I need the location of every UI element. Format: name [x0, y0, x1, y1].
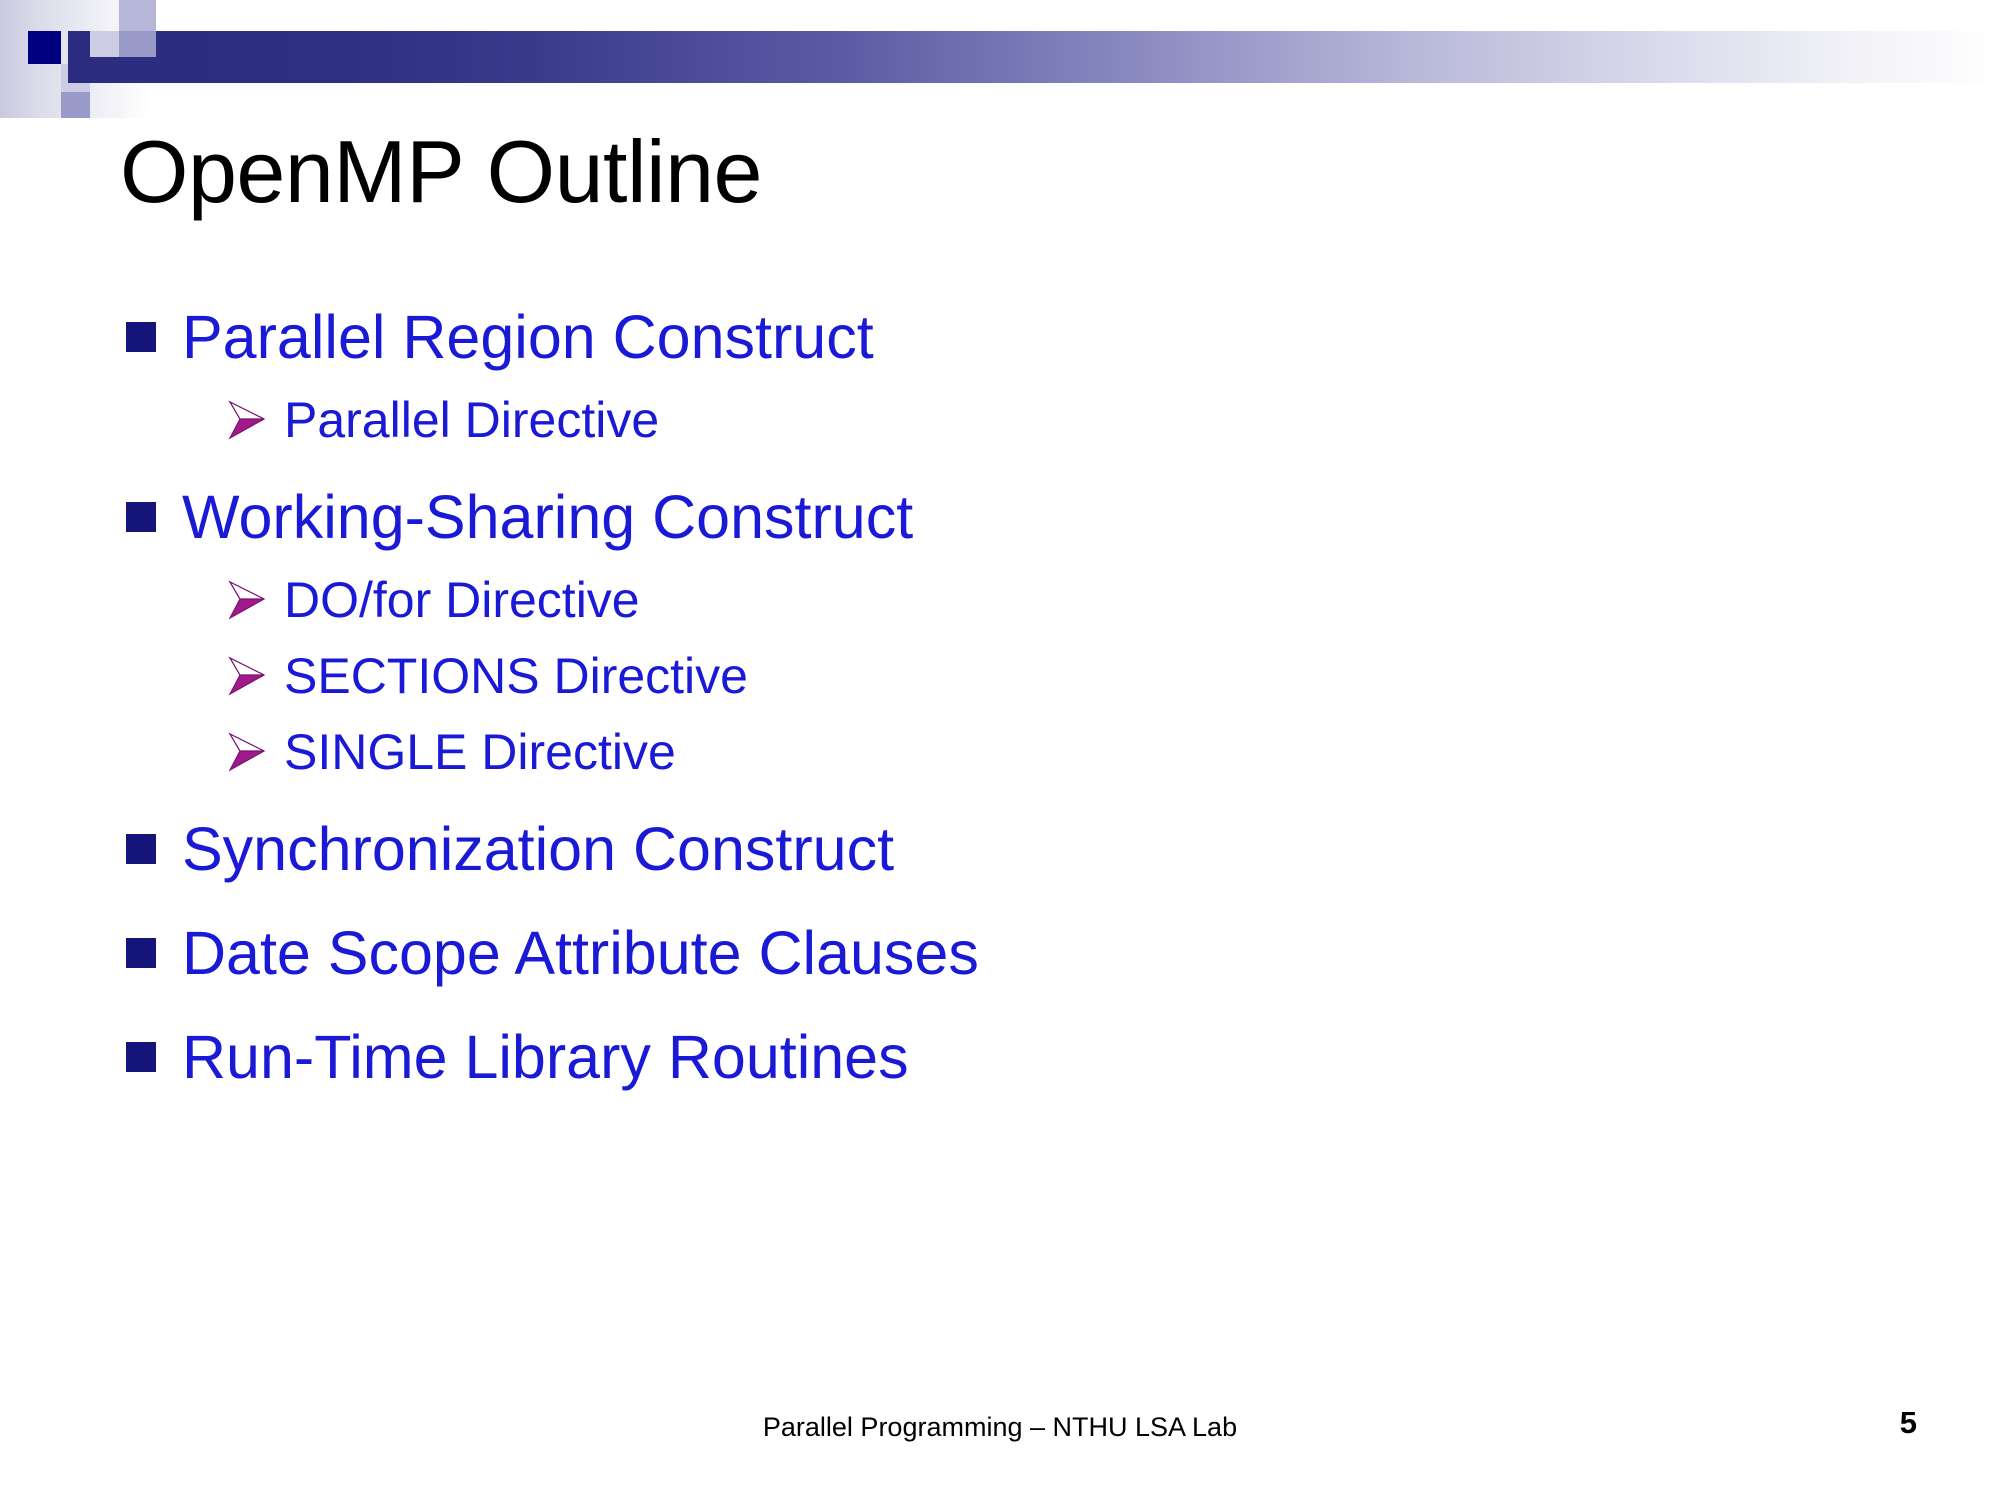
- outline-item-label: DO/for Directive: [284, 568, 640, 632]
- outline-item-level2[interactable]: DO/for Directive: [0, 568, 2000, 632]
- outline-item-level1[interactable]: Run-Time Library Routines: [0, 1020, 2000, 1094]
- spacer: [0, 634, 2000, 644]
- page-title: OpenMP Outline: [120, 128, 1880, 216]
- outline-item-label: Date Scope Attribute Clauses: [182, 916, 979, 990]
- square-bullet-icon: [126, 916, 182, 990]
- header-gradient-bar: [68, 31, 2000, 83]
- outline-item-level2[interactable]: SINGLE Directive: [0, 720, 2000, 784]
- outline-list: Parallel Region Construct Parallel Direc…: [0, 300, 2000, 1098]
- outline-item-label: Parallel Region Construct: [182, 300, 874, 374]
- outline-item-label: Synchronization Construct: [182, 812, 894, 886]
- header-decoration: [0, 0, 2000, 130]
- outline-item-level2[interactable]: Parallel Directive: [0, 388, 2000, 452]
- arrow-bullet-icon: [228, 568, 284, 632]
- outline-item-level1[interactable]: Synchronization Construct: [0, 812, 2000, 886]
- spacer: [0, 786, 2000, 812]
- arrow-bullet-icon: [228, 720, 284, 784]
- spacer: [0, 994, 2000, 1020]
- outline-item-label: Working-Sharing Construct: [182, 480, 913, 554]
- spacer: [0, 558, 2000, 568]
- outline-item-level2[interactable]: SECTIONS Directive: [0, 644, 2000, 708]
- slide-footer: Parallel Programming – NTHU LSA Lab: [0, 1412, 2000, 1443]
- header-overlay-block-c: [90, 31, 119, 57]
- square-bullet-icon: [126, 1020, 182, 1094]
- header-overlay-block-b: [119, 31, 156, 57]
- square-bullet-icon: [126, 300, 182, 374]
- outline-item-label: SECTIONS Directive: [284, 644, 748, 708]
- header-overlay-block-a: [119, 0, 156, 31]
- spacer: [0, 890, 2000, 916]
- arrow-bullet-icon: [228, 644, 284, 708]
- outline-item-level1[interactable]: Date Scope Attribute Clauses: [0, 916, 2000, 990]
- square-bullet-icon: [126, 812, 182, 886]
- outline-item-label: Parallel Directive: [284, 388, 659, 452]
- arrow-bullet-icon: [228, 388, 284, 452]
- header-block-periwinkle-below-left: [61, 92, 90, 118]
- square-bullet-icon: [126, 480, 182, 554]
- outline-item-level1[interactable]: Working-Sharing Construct: [0, 480, 2000, 554]
- page-number: 5: [1900, 1405, 1917, 1441]
- spacer: [0, 710, 2000, 720]
- header-block-navy-square-top: [28, 31, 61, 64]
- outline-item-label: SINGLE Directive: [284, 720, 676, 784]
- spacer: [0, 378, 2000, 388]
- outline-item-level1[interactable]: Parallel Region Construct: [0, 300, 2000, 374]
- spacer: [0, 454, 2000, 480]
- outline-item-label: Run-Time Library Routines: [182, 1020, 909, 1094]
